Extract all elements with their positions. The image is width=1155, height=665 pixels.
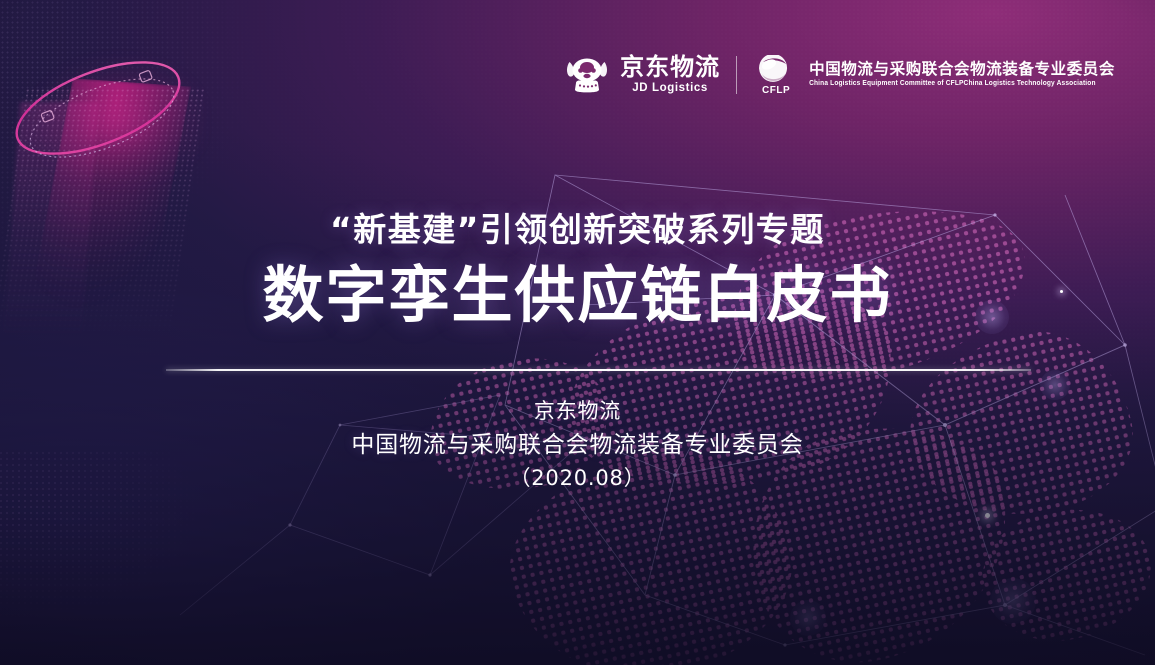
cflp-abbr-text: CFLP — [753, 85, 799, 96]
logo-separator — [736, 56, 737, 94]
title-block: “新基建”引领创新突破系列专题 数字孪生供应链白皮书 — [0, 212, 1155, 331]
cover-main-title: 数字孪生供应链白皮书 — [262, 262, 892, 330]
cflp-emblem-icon — [753, 55, 799, 87]
jd-logistics-logo: 京东物流 JD Logistics — [565, 55, 720, 95]
jd-logo-name-cn: 京东物流 — [620, 55, 720, 79]
footer-org-line-2: 中国物流与采购联合会物流装备专业委员会 — [351, 428, 803, 463]
cover-subtitle: “新基建”引领创新突破系列专题 — [330, 212, 825, 248]
cflp-name-en: China Logistics Equipment Committee of C… — [809, 81, 1115, 88]
cover-footer: 京东物流 中国物流与采购联合会物流装备专业委员会 （2020.08） — [0, 396, 1155, 495]
jd-logo-name-en: JD Logistics — [632, 83, 708, 95]
footer-org-line-1: 京东物流 — [534, 396, 621, 428]
footer-date: （2020.08） — [509, 463, 645, 495]
header-logo-bar: 京东物流 JD Logistics CFLP 中国物流与采购联合会物流装备 — [0, 47, 1155, 103]
title-divider-line — [166, 369, 1031, 371]
cflp-logo: CFLP 中国物流与采购联合会物流装备专业委员会 China Logistics… — [753, 55, 1115, 95]
cflp-name-cn: 中国物流与采购联合会物流装备专业委员会 — [809, 62, 1115, 78]
jd-joy-dog-mascot-icon — [565, 55, 609, 95]
cover-slide: 京东物流 JD Logistics CFLP 中国物流与采购联合会物流装备 — [0, 0, 1155, 665]
